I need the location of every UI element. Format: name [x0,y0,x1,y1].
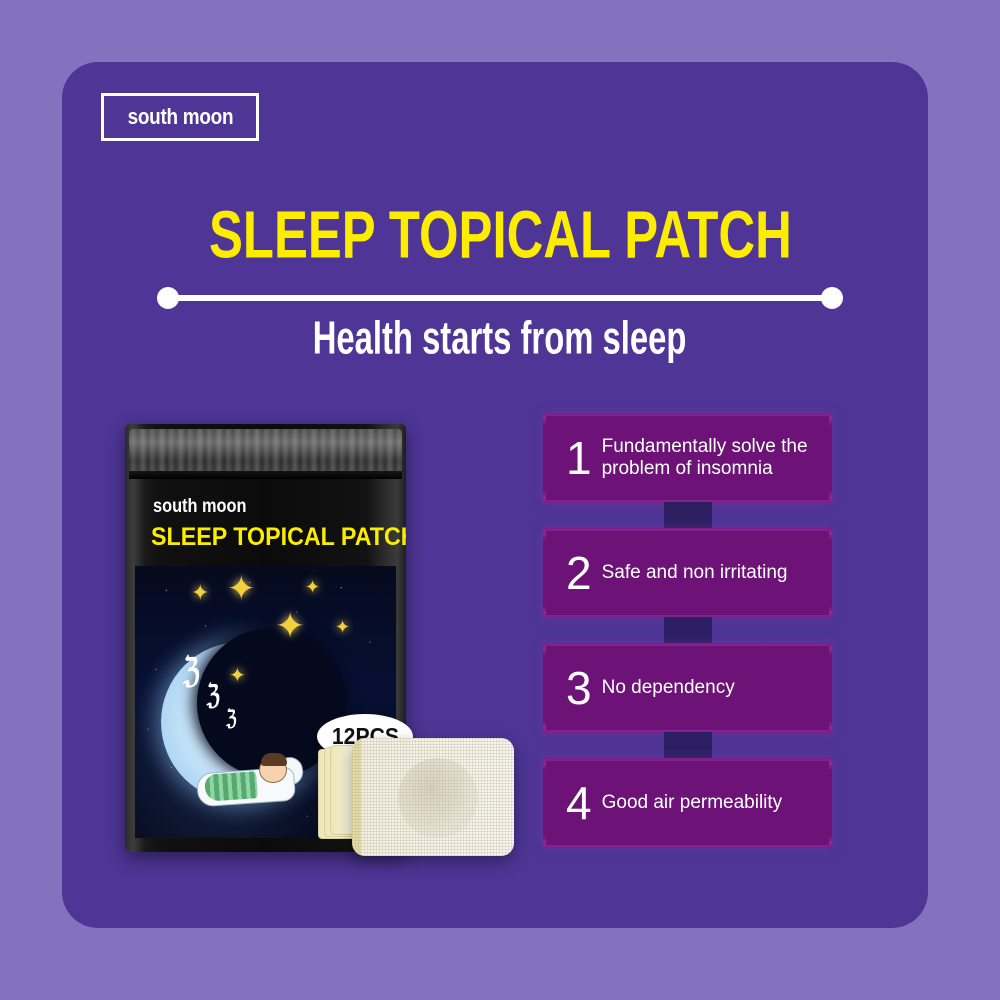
star-icon: ✦ [275,608,305,644]
sleeping-person-icon [197,752,309,804]
patch-product-image [352,738,514,856]
feature-item-2[interactable]: 2Safe and non irritating [543,528,832,618]
star-icon: ✦ [229,666,246,686]
feature-label: Safe and non irritating [602,562,788,584]
feature-connector [664,617,712,643]
feature-number: 1 [566,435,592,481]
sleep-z-icon: ℨ [183,654,200,688]
sleep-z-icon: ℨ [226,708,236,729]
feature-connector [664,732,712,758]
divider-dot-right [821,287,843,309]
person-hair-shape [261,753,287,766]
blanket-green-stripe-shape [204,771,258,802]
brand-logo-label: south moon [127,104,233,130]
page-subtitle-text: Health starts from sleep [313,312,687,365]
package-title-label: SLEEP TOPICAL PATCH [151,523,391,552]
page-title-text: SLEEP TOPICAL PATCH [209,199,792,272]
divider [157,287,843,309]
feature-item-inner: 4Good air permeability [546,761,829,845]
feature-item-1[interactable]: 1Fundamentally solve the problem of inso… [543,413,832,503]
feature-number: 4 [566,780,592,826]
sleep-z-icon: ℨ [207,682,220,709]
feature-label: Good air permeability [602,792,783,814]
page-subtitle: Health starts from sleep [0,315,1000,362]
package-zip-seal-icon [129,429,402,473]
feature-item-4[interactable]: 4Good air permeability [543,758,832,848]
feature-number: 2 [566,550,592,596]
feature-item-3[interactable]: 3No dependency [543,643,832,733]
star-icon: ✦ [227,572,256,606]
feature-number: 3 [566,665,592,711]
brand-logo: south moon [101,93,259,141]
divider-bar [168,295,832,301]
star-icon: ✦ [191,582,209,604]
page-title: SLEEP TOPICAL PATCH [0,202,1000,270]
package-brand-label: south moon [153,496,262,518]
feature-item-inner: 2Safe and non irritating [546,531,829,615]
feature-item-inner: 3No dependency [546,646,829,730]
star-icon: ✦ [335,618,350,636]
star-icon: ✦ [305,578,320,596]
feature-label: No dependency [602,677,735,699]
feature-label: Fundamentally solve the problem of insom… [602,436,817,480]
feature-connector [664,502,712,528]
patch-center-pad [398,758,478,838]
feature-item-inner: 1Fundamentally solve the problem of inso… [546,416,829,500]
